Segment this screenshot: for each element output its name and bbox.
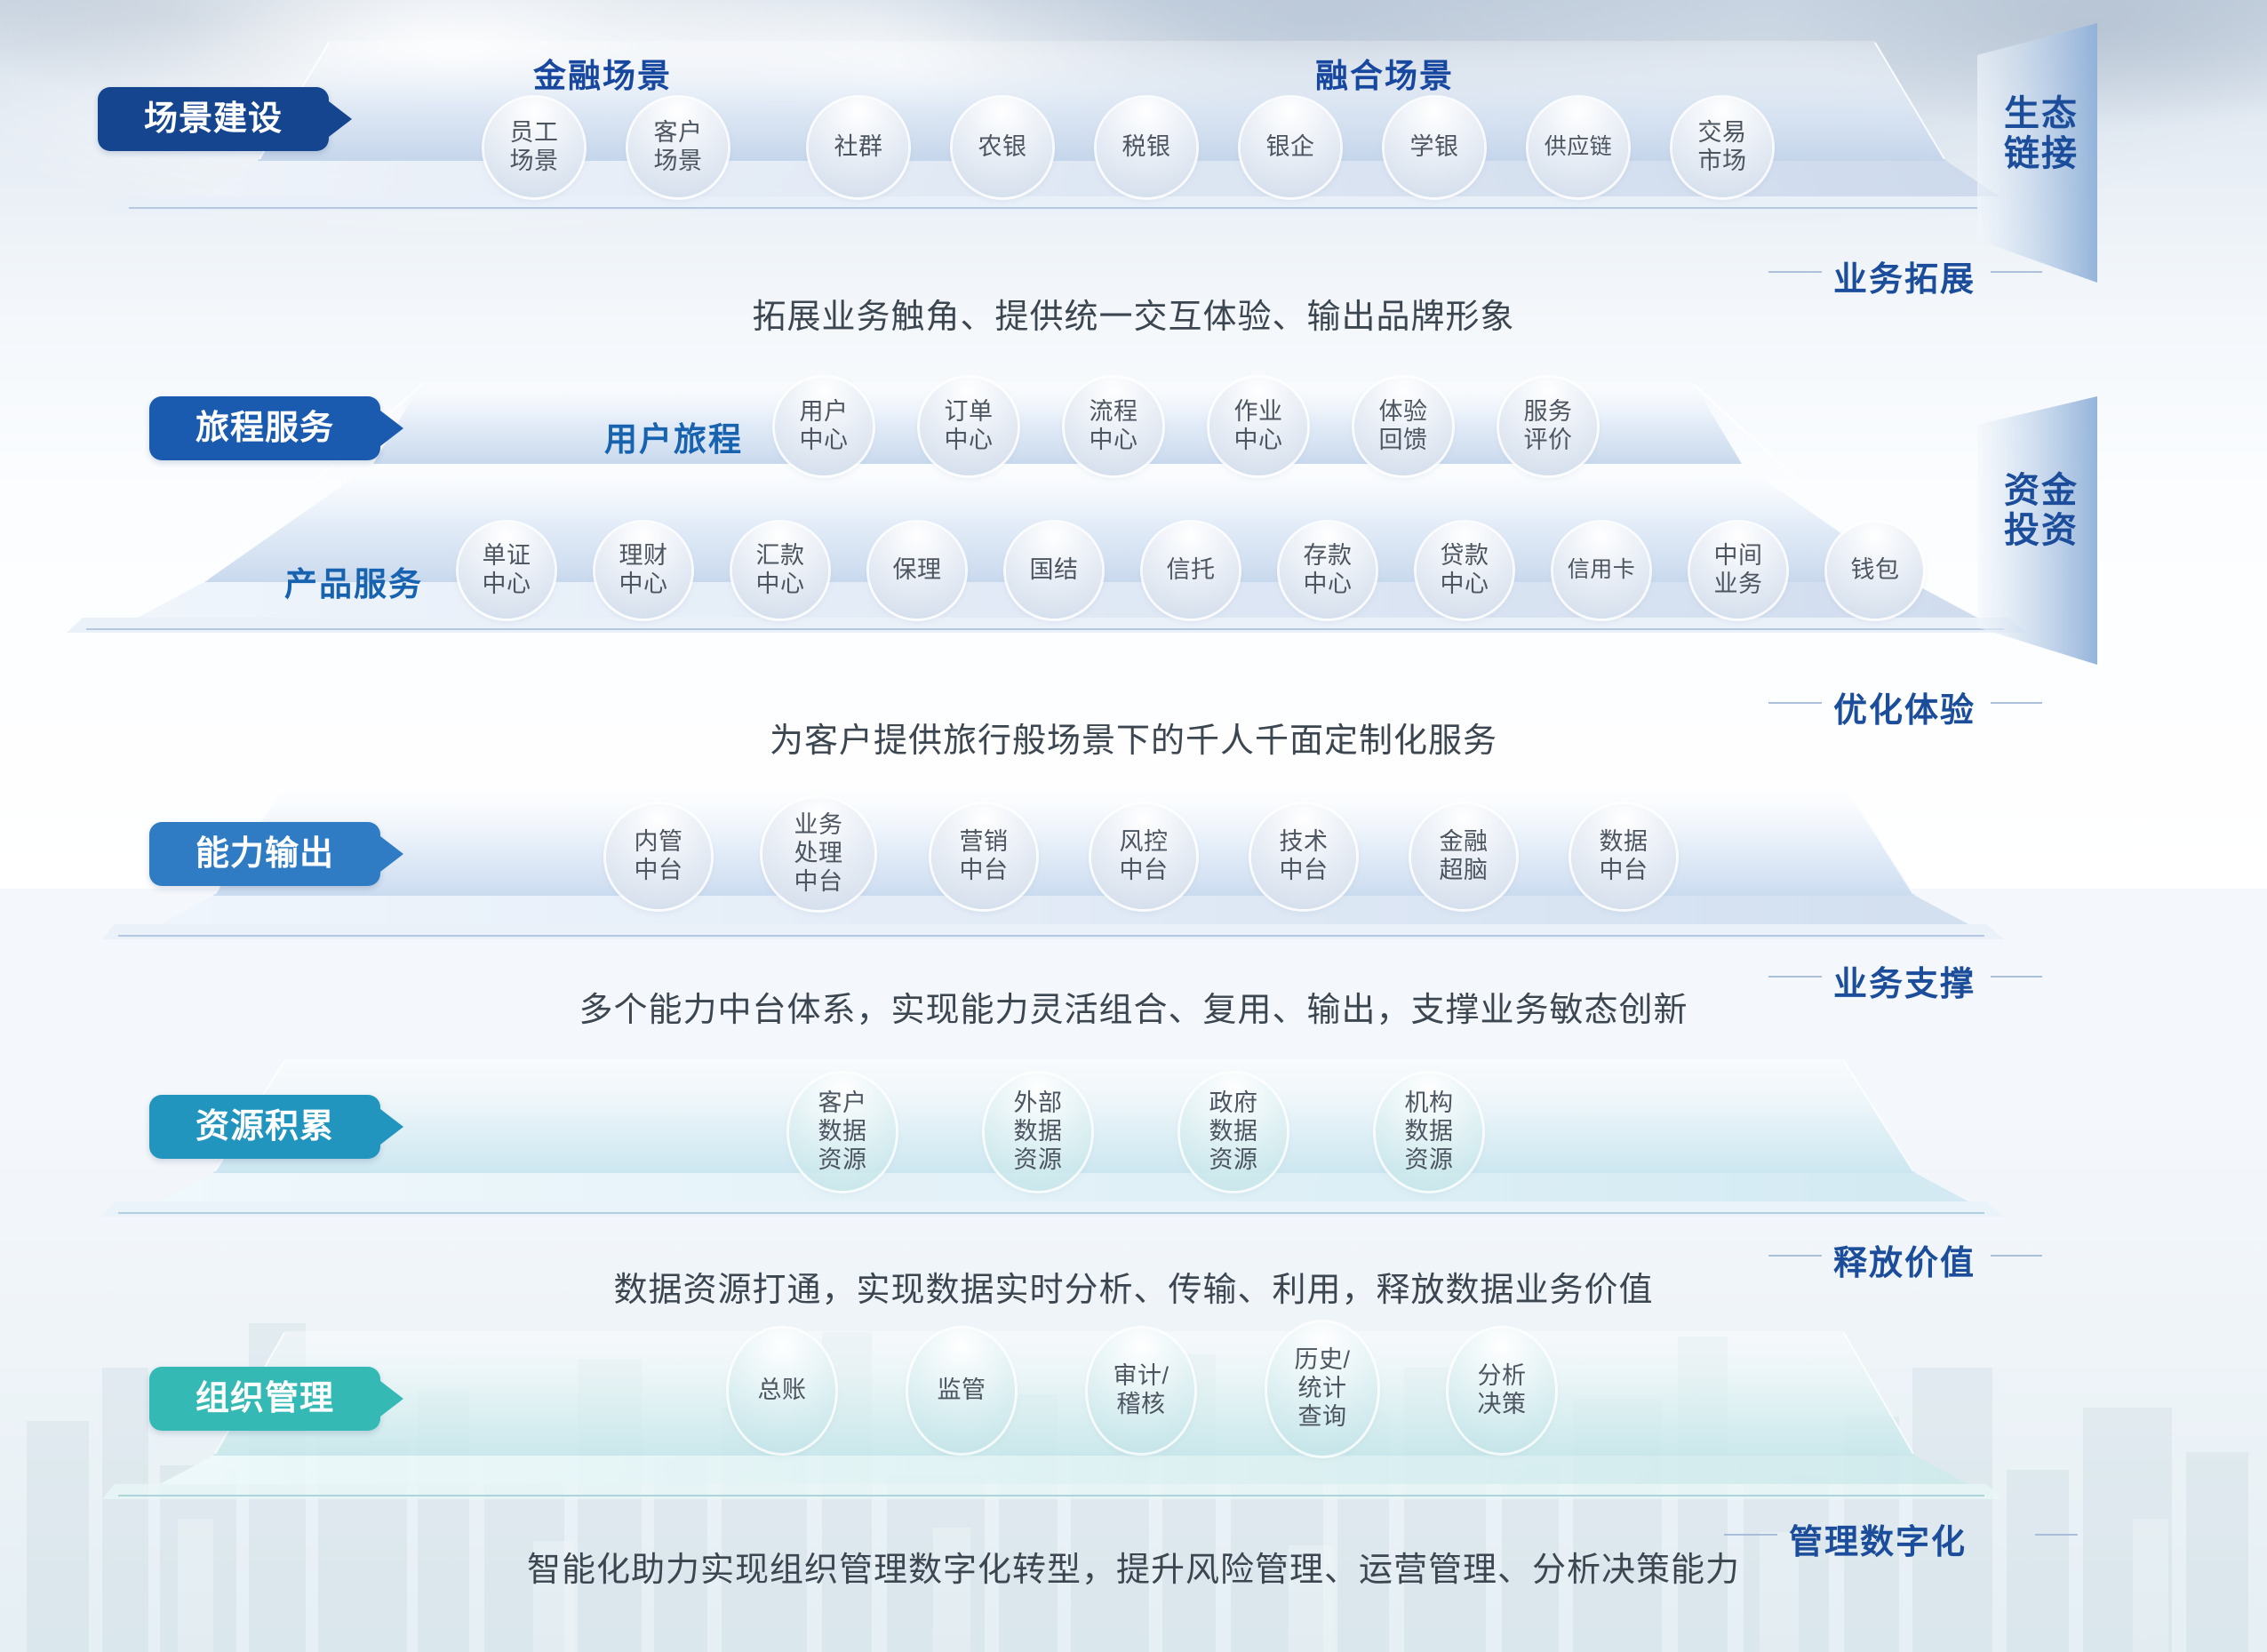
pill-organization-management[interactable]: 组织管理 — [149, 1367, 380, 1431]
node-trading-market[interactable]: 交易 市场 — [1672, 98, 1772, 197]
node-agri-bank[interactable]: 农银 — [953, 98, 1052, 197]
node-government-data-resource[interactable]: 政府 数据 资源 — [1180, 1073, 1287, 1191]
node-risk-control-platform[interactable]: 风控 中台 — [1091, 804, 1196, 909]
node-financial-brain[interactable]: 金融 超脑 — [1411, 804, 1516, 909]
node-audit-inspection[interactable]: 审计/ 稽核 — [1088, 1329, 1194, 1453]
node-data-platform[interactable]: 数据 中台 — [1571, 804, 1676, 909]
node-general-ledger[interactable]: 总账 — [729, 1329, 835, 1453]
node-service-evaluation[interactable]: 服务 评价 — [1499, 378, 1597, 475]
node-order-center[interactable]: 订单 中心 — [920, 378, 1018, 475]
node-analysis-decision[interactable]: 分析 决策 — [1449, 1329, 1555, 1453]
node-document-center[interactable]: 单证 中心 — [459, 523, 555, 619]
keyword-release-value: 释放价值 — [1833, 1235, 1976, 1284]
node-remittance-center[interactable]: 汇款 中心 — [732, 523, 828, 619]
keyword-rule-left-4 — [1768, 1255, 1822, 1257]
node-loan-center[interactable]: 贷款 中心 — [1417, 523, 1513, 619]
pill-scene-construction[interactable]: 场景建设 — [98, 87, 329, 151]
node-international-settlement[interactable]: 国结 — [1006, 523, 1102, 619]
pill-capability-output[interactable]: 能力输出 — [149, 822, 380, 886]
pill-label-journey-service: 旅程服务 — [196, 411, 334, 445]
pill-label-organization-management: 组织管理 — [196, 1382, 334, 1416]
node-community[interactable]: 社群 — [809, 98, 908, 197]
group-title-integration-scene: 融合场景 — [1315, 49, 1454, 97]
node-employee-scene[interactable]: 员工 场景 — [484, 98, 584, 197]
keyword-rule-left-5 — [1724, 1534, 1777, 1536]
node-intermediary-business[interactable]: 中间 业务 — [1690, 523, 1786, 619]
row-label-user-journey: 用户旅程 — [604, 412, 743, 460]
keyword-rule-left-1 — [1768, 271, 1822, 273]
keyword-management-digitalization: 管理数字化 — [1789, 1514, 1967, 1563]
keyword-rule-left-3 — [1768, 976, 1822, 978]
pill-label-capability-output: 能力输出 — [196, 837, 334, 871]
node-internal-mgmt-platform[interactable]: 内管 中台 — [606, 804, 711, 909]
node-external-data-resource[interactable]: 外部 数据 资源 — [985, 1073, 1091, 1191]
keyword-rule-left-2 — [1768, 702, 1822, 704]
node-customer-scene[interactable]: 客户 场景 — [628, 98, 728, 197]
node-user-center[interactable]: 用户 中心 — [775, 378, 873, 475]
pill-resource-accumulation[interactable]: 资源积累 — [149, 1095, 380, 1159]
pill-notch-icon — [380, 836, 403, 872]
node-credit-card[interactable]: 信用卡 — [1553, 523, 1649, 619]
row-label-product-service: 产品服务 — [284, 557, 423, 605]
pill-notch-icon — [380, 411, 403, 446]
keyword-rule-right-5 — [2035, 1534, 2078, 1536]
keyword-rule-right-4 — [1991, 1255, 2042, 1257]
node-technology-platform[interactable]: 技术 中台 — [1251, 804, 1356, 909]
node-tax-bank[interactable]: 税银 — [1097, 98, 1196, 197]
pill-notch-icon — [329, 101, 352, 137]
node-bank-enterprise[interactable]: 银企 — [1241, 98, 1340, 197]
keyword-business-support: 业务支撑 — [1833, 956, 1976, 1005]
node-supply-chain[interactable]: 供应链 — [1529, 98, 1628, 197]
banner-label-capital-investment: 资金 投资 — [1986, 471, 2096, 551]
node-wealth-center[interactable]: 理财 中心 — [595, 523, 691, 619]
node-wallet[interactable]: 钱包 — [1827, 523, 1923, 619]
node-factoring[interactable]: 保理 — [869, 523, 965, 619]
group-title-financial-scene: 金融场景 — [533, 49, 672, 97]
tier-shape-capability-output — [102, 782, 2013, 991]
node-history-statistics-query[interactable]: 历史/ 统计 查询 — [1267, 1322, 1377, 1456]
pill-notch-icon — [380, 1381, 403, 1417]
banner-capital-investment: 资金 投资 — [1977, 389, 2173, 687]
pill-notch-icon — [380, 1109, 403, 1145]
banner-label-ecosystem-link: 生态 链接 — [1986, 94, 2096, 174]
node-customer-data-resource[interactable]: 客户 数据 资源 — [789, 1073, 896, 1191]
node-operation-center[interactable]: 作业 中心 — [1209, 378, 1307, 475]
node-institution-data-resource[interactable]: 机构 数据 资源 — [1376, 1073, 1482, 1191]
pill-label-resource-accumulation: 资源积累 — [196, 1110, 334, 1144]
node-school-bank[interactable]: 学银 — [1385, 98, 1484, 197]
node-experience-feedback[interactable]: 体验 回馈 — [1354, 378, 1452, 475]
keyword-rule-right-2 — [1991, 702, 2042, 704]
pill-label-scene-construction: 场景建设 — [144, 102, 283, 136]
tier-shape-organization-management — [102, 1331, 2013, 1553]
node-marketing-platform[interactable]: 营销 中台 — [931, 804, 1036, 909]
node-process-center[interactable]: 流程 中心 — [1065, 378, 1162, 475]
banner-ecosystem-link: 生态 链接 — [1977, 16, 2173, 296]
node-business-processing-platform[interactable]: 业务 处理 中台 — [762, 798, 874, 910]
node-trust[interactable]: 信托 — [1143, 523, 1239, 619]
pill-journey-service[interactable]: 旅程服务 — [149, 396, 380, 460]
node-supervision[interactable]: 监管 — [908, 1329, 1015, 1453]
node-deposit-center[interactable]: 存款 中心 — [1280, 523, 1376, 619]
keyword-optimize-experience: 优化体验 — [1833, 682, 1976, 731]
keyword-business-expansion: 业务拓展 — [1833, 251, 1976, 300]
keyword-rule-right-3 — [1991, 976, 2042, 978]
